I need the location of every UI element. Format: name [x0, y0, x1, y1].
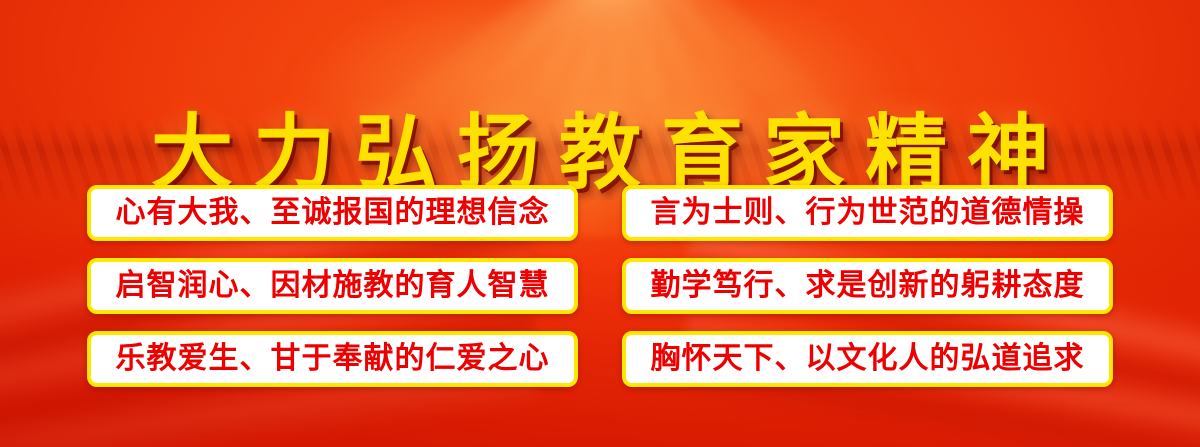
slogan-pill-5: 乐教爱生、甘于奉献的仁爱之心	[87, 331, 578, 387]
slogan-grid: 心有大我、至诚报国的理想信念 言为士则、行为世范的道德情操 启智润心、因材施教的…	[87, 185, 1113, 387]
slogan-pill-6: 胸怀天下、以文化人的弘道追求	[622, 331, 1113, 387]
slogan-text-5: 乐教爱生、甘于奉献的仁爱之心	[116, 344, 550, 374]
slogan-pill-4: 勤学笃行、求是创新的躬耕态度	[622, 258, 1113, 314]
slogan-pill-2: 言为士则、行为世范的道德情操	[622, 185, 1113, 241]
slogan-text-2: 言为士则、行为世范的道德情操	[651, 198, 1085, 228]
slogan-text-1: 心有大我、至诚报国的理想信念	[116, 198, 550, 228]
education-spirit-banner: 大力弘扬教育家精神 心有大我、至诚报国的理想信念 言为士则、行为世范的道德情操 …	[0, 0, 1200, 447]
slogan-text-4: 勤学笃行、求是创新的躬耕态度	[651, 271, 1085, 301]
slogan-pill-1: 心有大我、至诚报国的理想信念	[87, 185, 578, 241]
slogan-text-6: 胸怀天下、以文化人的弘道追求	[651, 344, 1085, 374]
slogan-text-3: 启智润心、因材施教的育人智慧	[116, 271, 550, 301]
slogan-pill-3: 启智润心、因材施教的育人智慧	[87, 258, 578, 314]
